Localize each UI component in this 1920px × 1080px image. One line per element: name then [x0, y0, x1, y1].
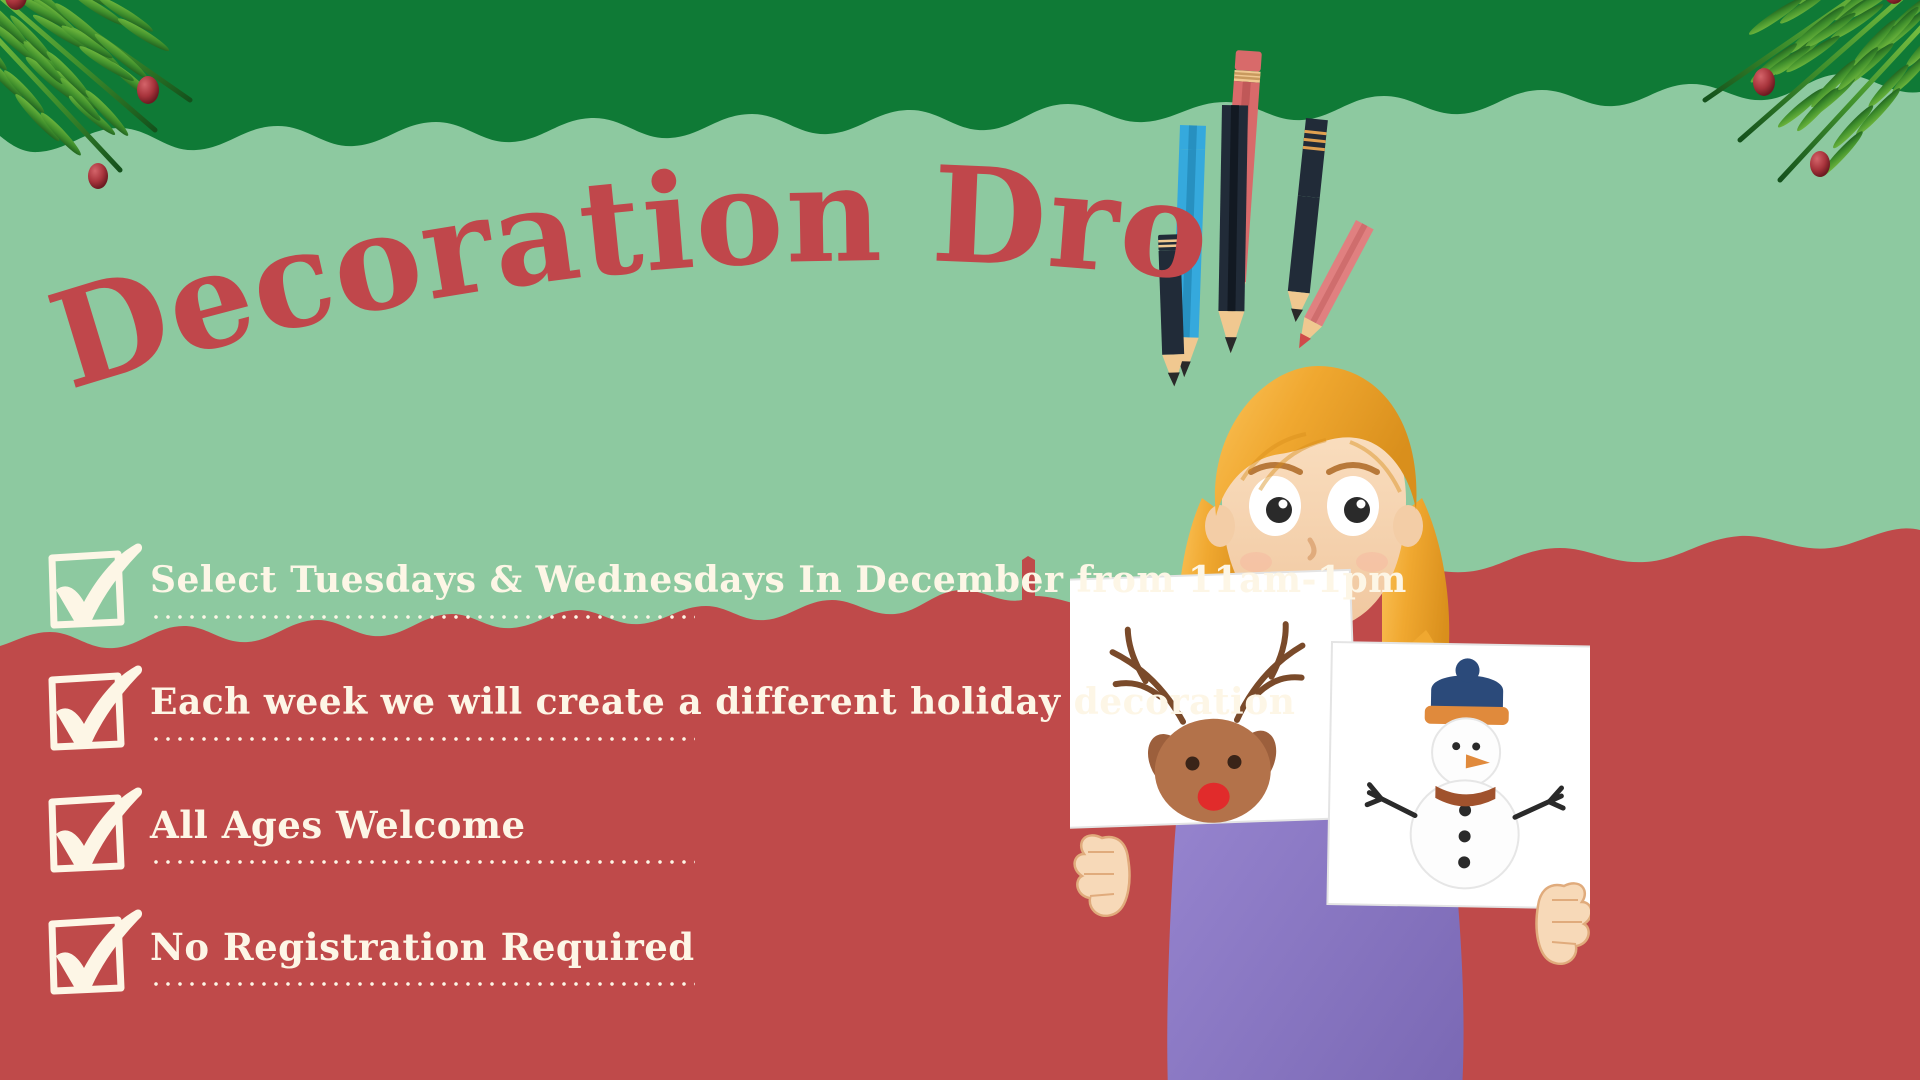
poster-canvas: Decoration Drop-In [0, 0, 1920, 1080]
checkbox-checked-icon[interactable] [40, 784, 150, 880]
list-item-rule [150, 981, 695, 987]
pine-branch-left-needles [0, 0, 190, 176]
list-item-rule [150, 736, 695, 742]
list-item-text: Each week we will create a different hol… [150, 684, 1400, 722]
list-item-body: Each week we will create a different hol… [150, 662, 1400, 742]
list-item-text: No Registration Required [150, 928, 1400, 967]
list-item: No Registration Required [40, 906, 1400, 1002]
girl-hand-right [1537, 883, 1590, 963]
checkbox-checked-icon[interactable] [40, 540, 150, 636]
pine-branch-left [0, 0, 400, 240]
list-item-text: All Ages Welcome [150, 806, 1400, 845]
list-item-body: Select Tuesdays & Wednesdays In December… [150, 540, 1407, 620]
list-item-body: All Ages Welcome [150, 784, 1400, 865]
checklist: Select Tuesdays & Wednesdays In December… [40, 540, 1400, 1028]
pine-branch-right [1490, 0, 1920, 250]
list-item-rule [150, 614, 695, 620]
list-item: All Ages Welcome [40, 784, 1400, 880]
list-item: Select Tuesdays & Wednesdays In December… [40, 540, 1400, 636]
checkbox-checked-icon[interactable] [40, 906, 150, 1002]
list-item: Each week we will create a different hol… [40, 662, 1400, 758]
pine-branch-right-needles [1705, 0, 1920, 180]
pencil-black-large [1218, 105, 1248, 353]
list-item-rule [150, 859, 695, 865]
snowman-head [1432, 718, 1501, 787]
list-item-body: No Registration Required [150, 906, 1400, 987]
checkbox-checked-icon[interactable] [40, 662, 150, 758]
list-item-text: Select Tuesdays & Wednesdays In December… [150, 562, 1407, 600]
